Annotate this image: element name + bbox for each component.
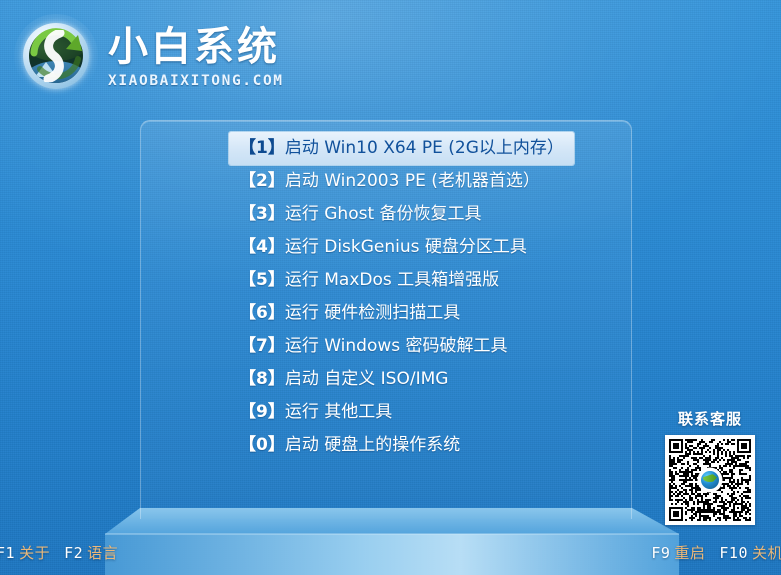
menu-item-7[interactable]: 【7】运行 Windows 密码破解工具: [229, 330, 518, 363]
menu-item-key: 【4】: [239, 237, 285, 257]
footer-key-f1[interactable]: F1: [0, 544, 15, 562]
footer-hints-left[interactable]: F1关于F2语言: [0, 542, 118, 563]
contact-support-block: 联系客服: [655, 408, 765, 525]
footer-key-label-f2[interactable]: 语言: [87, 544, 118, 562]
menu-item-key: 【9】: [239, 402, 285, 422]
menu-item-label: 运行 硬件检测扫描工具: [285, 303, 460, 323]
qr-code[interactable]: [665, 435, 755, 525]
s-swirl-icon: [40, 30, 68, 82]
menu-item-label: 启动 Win2003 PE (老机器首选）: [285, 171, 540, 191]
menu-item-key: 【2】: [239, 171, 285, 191]
xiaobai-globe-logo-icon: [14, 14, 98, 98]
menu-item-label: 启动 Win10 X64 PE (2G以上内存）: [285, 138, 564, 158]
menu-item-label: 启动 硬盘上的操作系统: [285, 435, 460, 455]
menu-item-key: 【1】: [239, 138, 285, 158]
menu-item-key: 【0】: [239, 435, 285, 455]
menu-item-label: 运行 DiskGenius 硬盘分区工具: [285, 237, 527, 257]
menu-panel: 【1】启动 Win10 X64 PE (2G以上内存）【2】启动 Win2003…: [140, 120, 632, 519]
boot-menu-list[interactable]: 【1】启动 Win10 X64 PE (2G以上内存）【2】启动 Win2003…: [141, 121, 631, 462]
menu-item-2[interactable]: 【2】启动 Win2003 PE (老机器首选）: [229, 165, 550, 198]
menu-item-10[interactable]: 【0】启动 硬盘上的操作系统: [229, 429, 470, 462]
contact-support-label: 联系客服: [655, 408, 765, 429]
menu-item-label: 运行 Ghost 备份恢复工具: [285, 204, 482, 224]
menu-item-label: 运行 MaxDos 工具箱增强版: [285, 270, 499, 290]
footer-key-f2[interactable]: F2: [64, 544, 83, 562]
footer-key-f10[interactable]: F10: [719, 544, 748, 562]
menu-item-label: 运行 Windows 密码破解工具: [285, 336, 508, 356]
footer-key-f9[interactable]: F9: [651, 544, 670, 562]
brand-logo: 小白系统 XIAOBAIXITONG.COM: [14, 14, 284, 98]
brand-name-cn: 小白系统: [108, 27, 284, 67]
menu-item-key: 【3】: [239, 204, 285, 224]
menu-item-label: 运行 其他工具: [285, 402, 392, 422]
qr-center-logo-icon: [699, 469, 721, 491]
menu-item-3[interactable]: 【3】运行 Ghost 备份恢复工具: [229, 198, 492, 231]
footer-hints-right[interactable]: F9重启F10关机: [651, 542, 781, 563]
menu-item-key: 【8】: [239, 369, 285, 389]
menu-item-label: 启动 自定义 ISO/IMG: [285, 369, 449, 389]
boot-menu-screen: 小白系统 XIAOBAIXITONG.COM 【1】启动 Win10 X64 P…: [0, 0, 781, 575]
footer-key-label-f9[interactable]: 重启: [674, 544, 705, 562]
menu-item-4[interactable]: 【4】运行 DiskGenius 硬盘分区工具: [229, 231, 537, 264]
menu-item-9[interactable]: 【9】运行 其他工具: [229, 396, 402, 429]
brand-name-en: XIAOBAIXITONG.COM: [108, 74, 284, 89]
menu-item-key: 【7】: [239, 336, 285, 356]
footer-key-label-f1[interactable]: 关于: [19, 544, 50, 562]
menu-item-key: 【6】: [239, 303, 285, 323]
menu-item-6[interactable]: 【6】运行 硬件检测扫描工具: [229, 297, 470, 330]
menu-item-1[interactable]: 【1】启动 Win10 X64 PE (2G以上内存）: [229, 132, 574, 165]
menu-item-8[interactable]: 【8】启动 自定义 ISO/IMG: [229, 363, 458, 396]
menu-item-5[interactable]: 【5】运行 MaxDos 工具箱增强版: [229, 264, 509, 297]
menu-item-key: 【5】: [239, 270, 285, 290]
footer-key-label-f10[interactable]: 关机: [752, 544, 781, 562]
